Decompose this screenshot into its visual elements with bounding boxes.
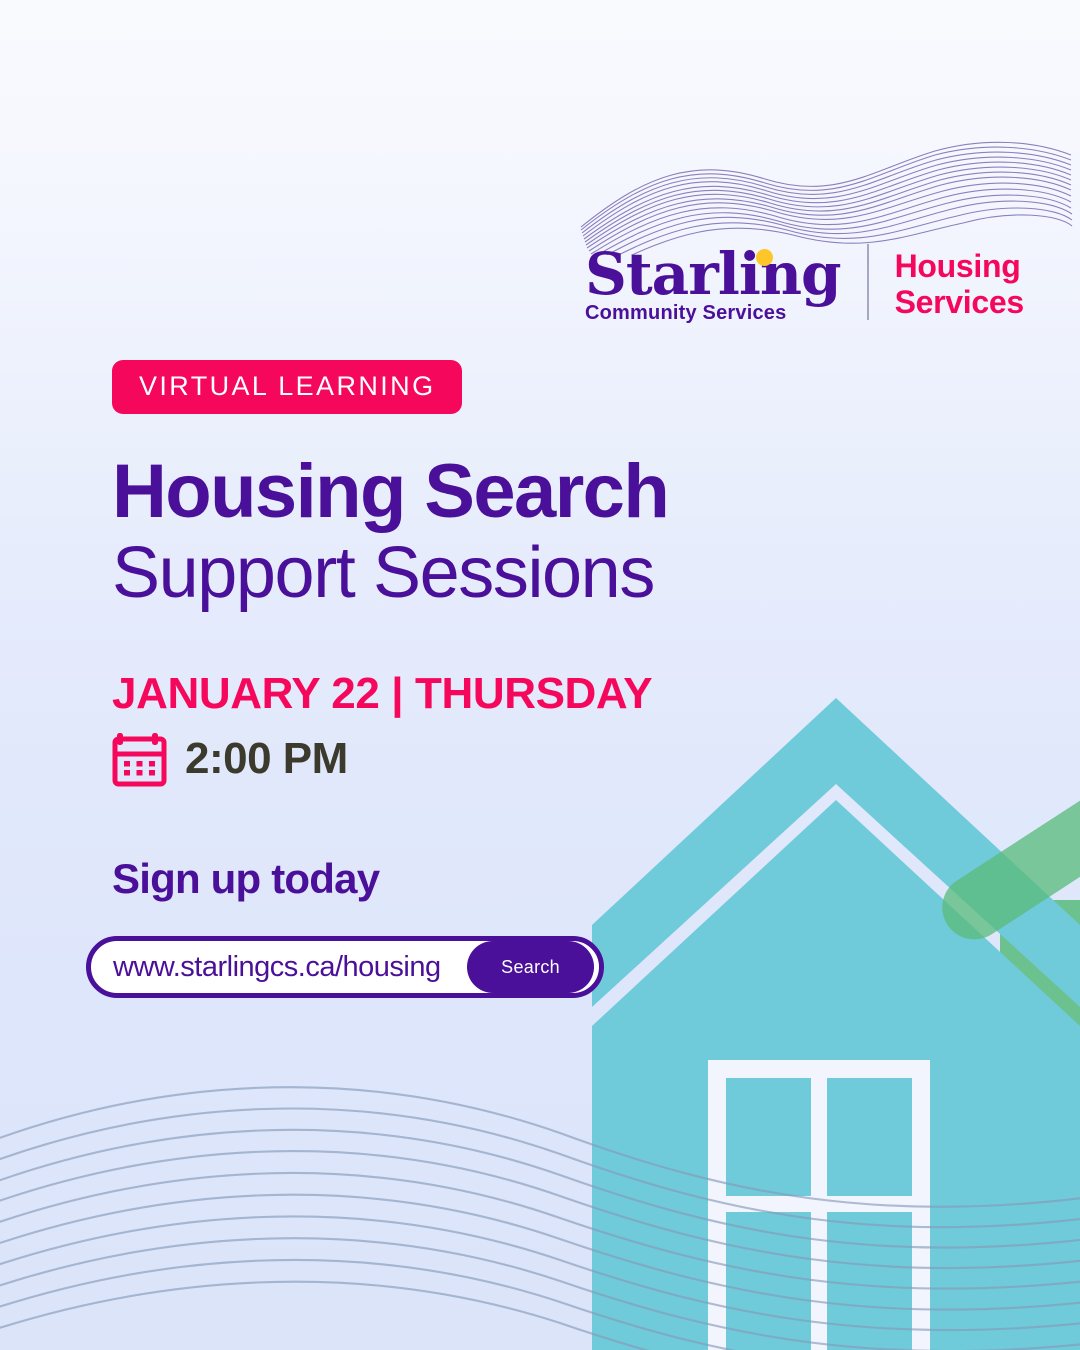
logo-divider (867, 244, 869, 320)
wave-icon (575, 135, 1075, 255)
cta-title: Sign up today (112, 855, 812, 903)
event-date: JANUARY 22 | THURSDAY (112, 669, 812, 719)
poster-canvas: Starling Community Services Housing Serv… (0, 0, 1080, 1350)
virtual-learning-badge: VIRTUAL LEARNING (112, 360, 462, 414)
unit-name-line2: Services (895, 284, 1024, 320)
unit-name: Housing Services (895, 249, 1024, 321)
search-input[interactable]: www.starlingcs.ca/housing (113, 951, 441, 984)
brand-accent-dot-icon (756, 249, 773, 266)
brand-logo-lockup: Starling Community Services Housing Serv… (575, 135, 1075, 335)
event-time: 2:00 PM (185, 734, 348, 784)
unit-name-line1: Housing (895, 248, 1021, 284)
event-time-row: 2:00 PM (112, 731, 812, 787)
search-bar[interactable]: www.starlingcs.ca/housing Search (86, 936, 604, 998)
search-button[interactable]: Search (467, 941, 594, 993)
brand-name: Starling (585, 245, 841, 304)
main-content: VIRTUAL LEARNING Housing Search Support … (112, 360, 812, 903)
calendar-icon (112, 731, 170, 787)
headline-line1: Housing Search (112, 453, 812, 531)
logo-text-row: Starling Community Services Housing Serv… (585, 245, 1024, 325)
headline-line2: Support Sessions (112, 535, 812, 611)
brand-block: Starling Community Services (585, 245, 841, 325)
page-title: Housing Search Support Sessions (112, 453, 812, 611)
